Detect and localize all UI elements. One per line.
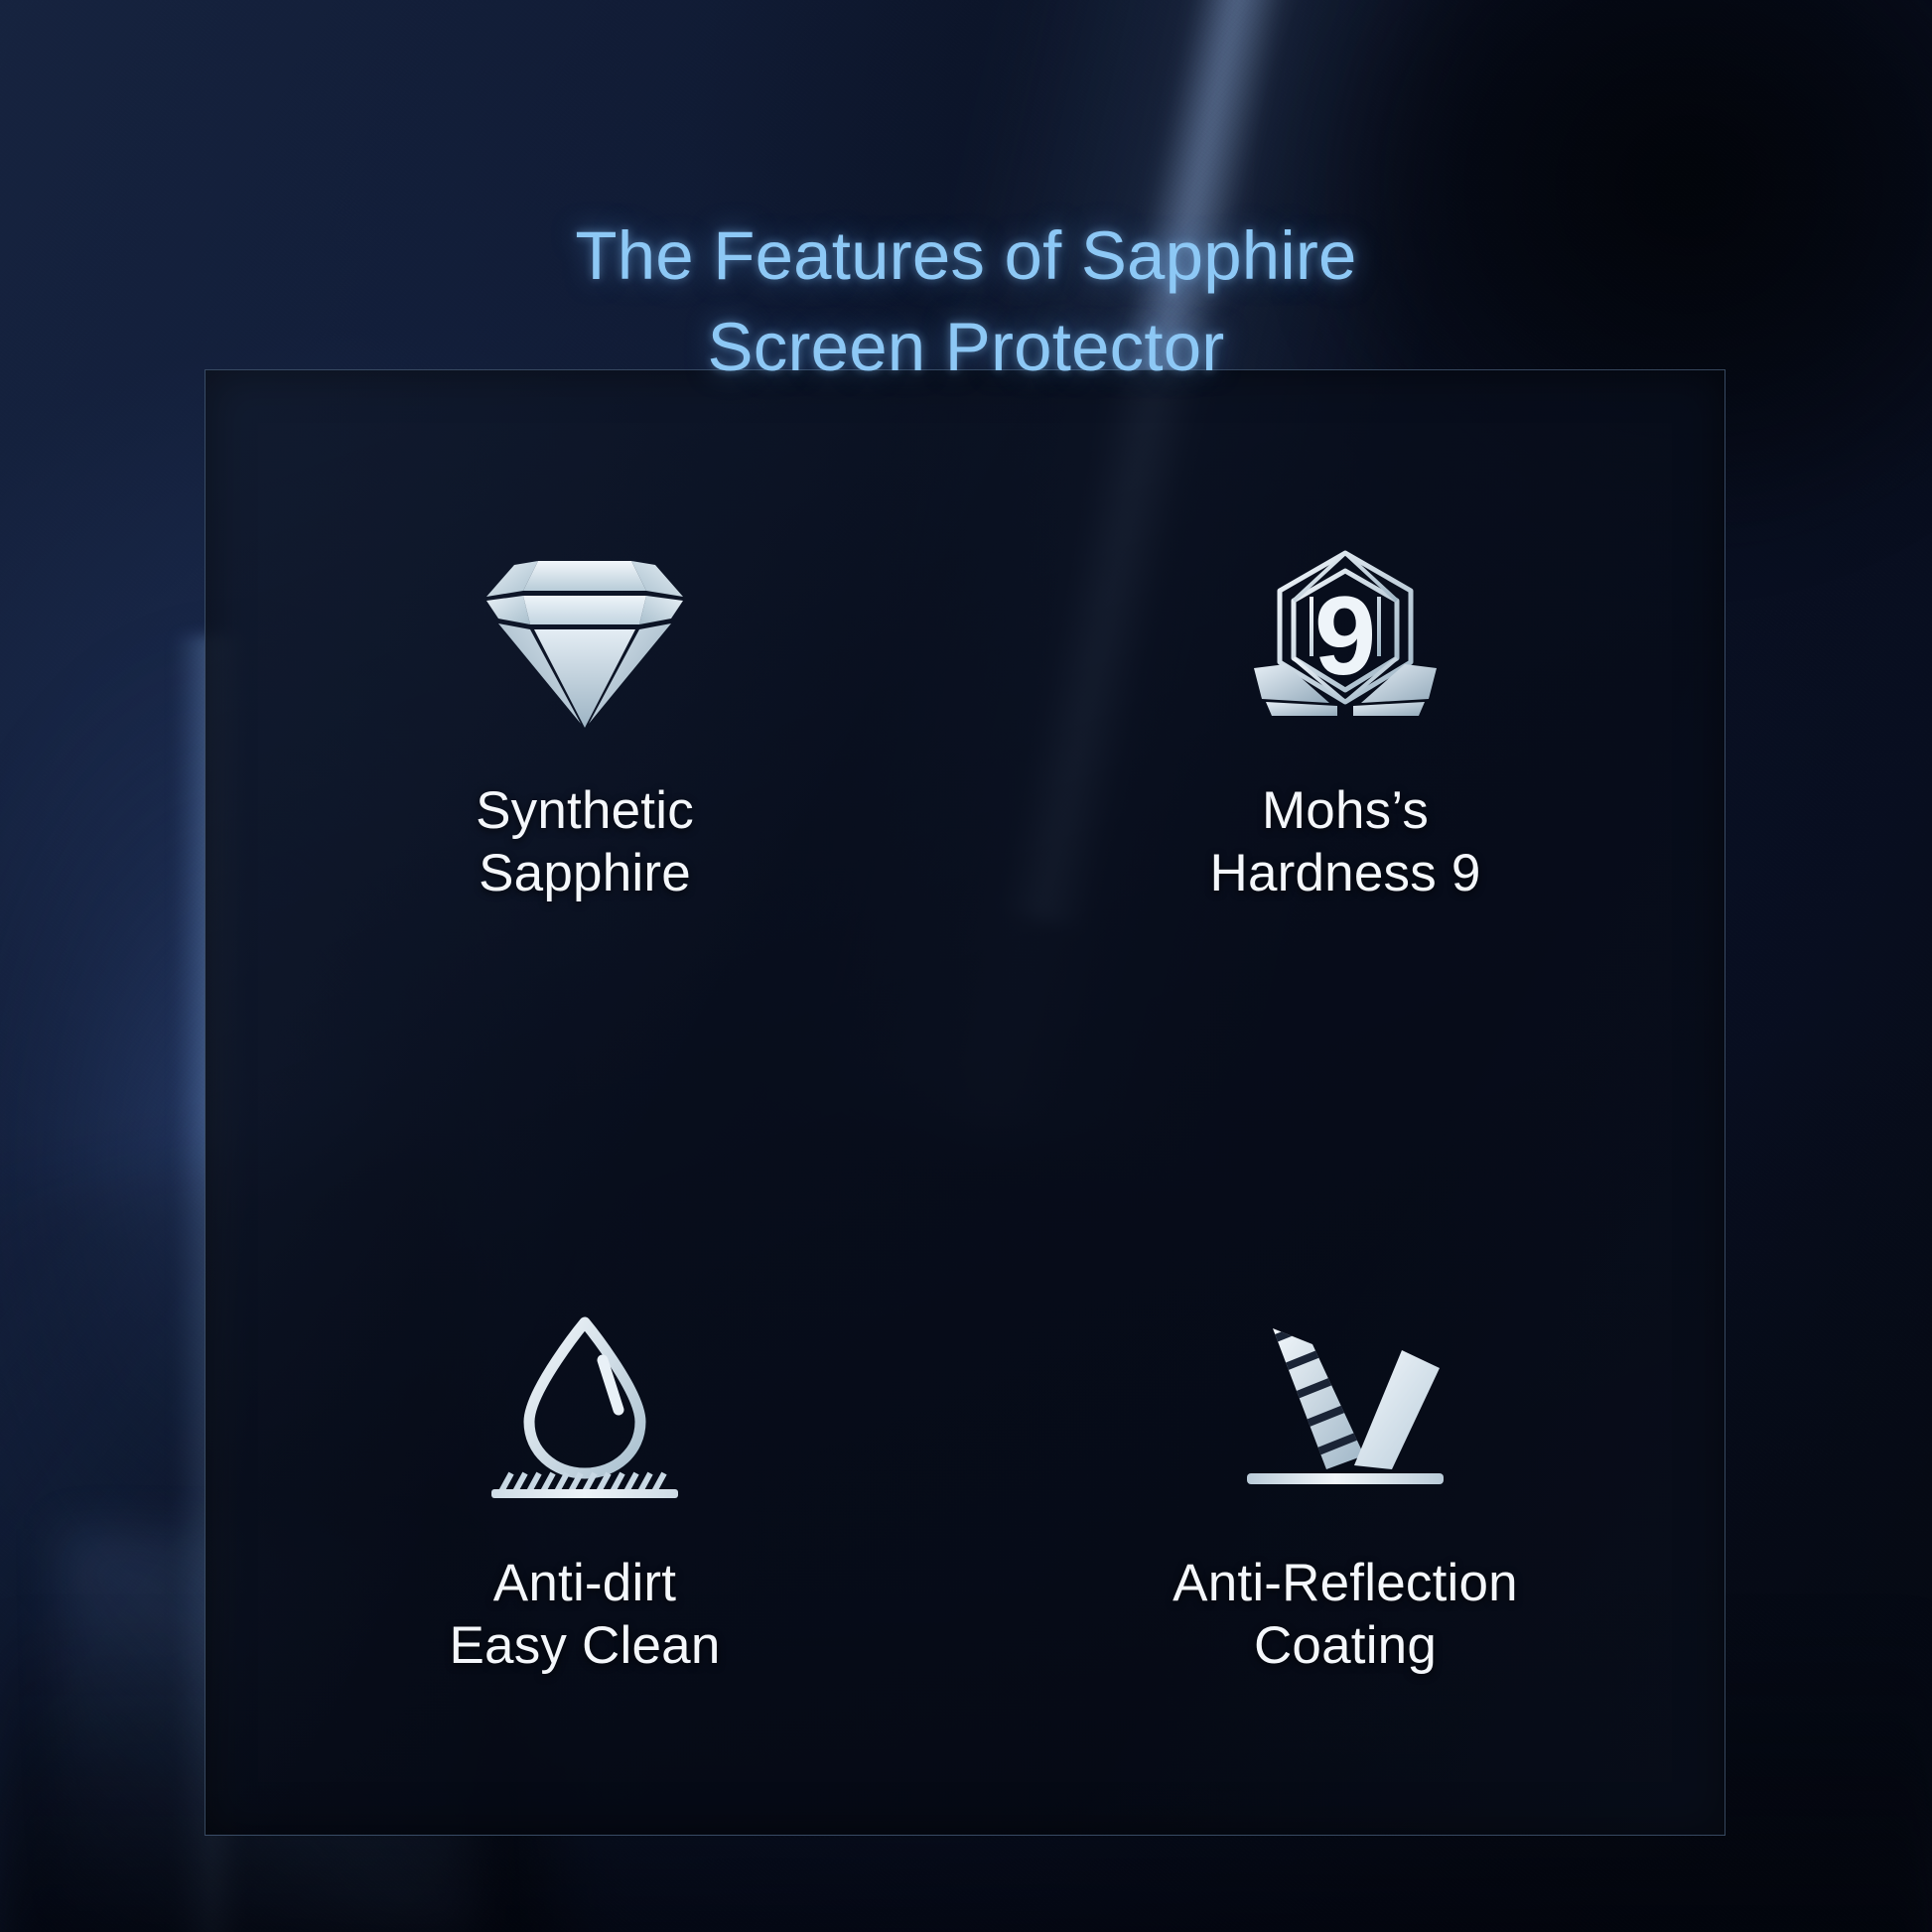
page-title-line1: The Features of Sapphire <box>575 217 1356 294</box>
mohs-hardness-crystal-9-icon: 9 <box>1231 541 1459 740</box>
feature-label-line2: Hardness 9 <box>1209 842 1480 904</box>
light-ray-reflection-icon <box>1231 1308 1459 1506</box>
feature-label-synthetic-sapphire: Synthetic Sapphire <box>476 779 694 904</box>
feature-label-line1: Mohs’s <box>1262 781 1429 840</box>
feature-label-line1: Anti-Reflection <box>1173 1554 1518 1612</box>
feature-label-line2: Easy Clean <box>449 1614 720 1677</box>
feature-label-line1: Anti-dirt <box>493 1554 676 1612</box>
feature-label-anti-reflection: Anti-Reflection Coating <box>1173 1552 1518 1677</box>
feature-item-anti-dirt: Anti-dirt Easy Clean <box>205 1103 965 1837</box>
feature-label-anti-dirt: Anti-dirt Easy Clean <box>449 1552 720 1677</box>
page-title: The Features of Sapphire Screen Protecto… <box>0 210 1932 393</box>
feature-label-line2: Sapphire <box>476 842 694 904</box>
svg-text:9: 9 <box>1314 574 1376 698</box>
feature-item-mohs-hardness: 9 Mohs’s Hardness 9 <box>965 369 1725 1103</box>
feature-label-mohs-hardness: Mohs’s Hardness 9 <box>1209 779 1480 904</box>
water-droplet-on-surface-icon <box>471 1308 699 1506</box>
feature-grid: Synthetic Sapphire <box>205 369 1725 1836</box>
feature-item-synthetic-sapphire: Synthetic Sapphire <box>205 369 965 1103</box>
feature-label-line2: Coating <box>1173 1614 1518 1677</box>
feature-item-anti-reflection: Anti-Reflection Coating <box>965 1103 1725 1837</box>
feature-label-line1: Synthetic <box>476 781 694 840</box>
diamond-gem-icon <box>471 541 699 740</box>
